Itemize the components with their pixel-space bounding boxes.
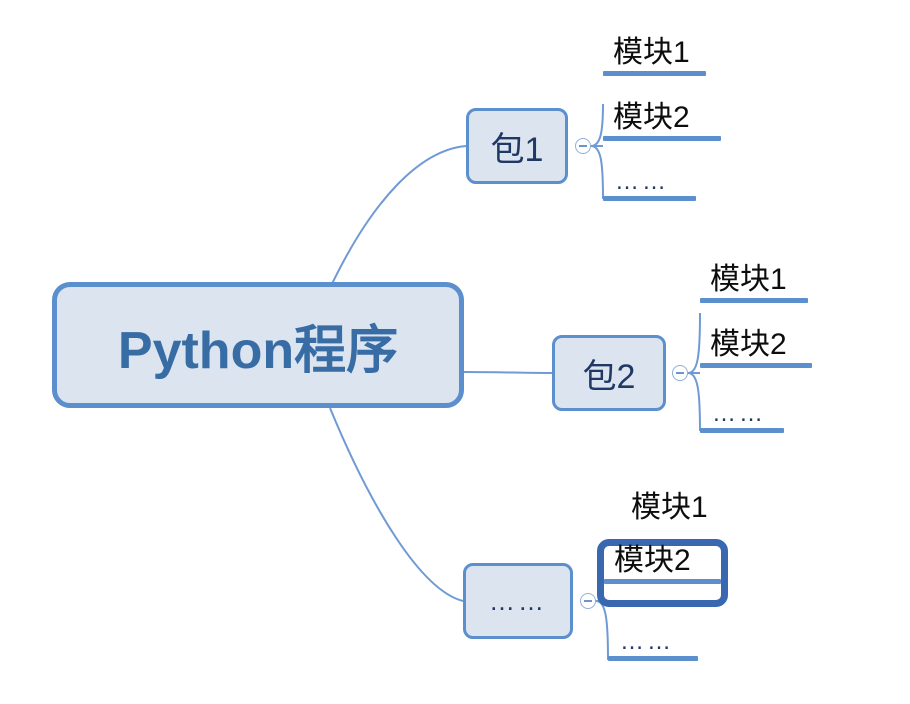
leaf-item-selected[interactable]: 模块2 [604,546,721,584]
leaf-item[interactable]: 模块1 [700,265,808,303]
branch-node-label: …… [489,586,547,617]
leaf-item[interactable]: 模块1 [603,38,706,76]
leaf-label: 模块2 [603,103,721,134]
leaf-label: …… [603,170,696,194]
leaf-underline [608,656,698,661]
branch-node-label: 包1 [491,122,544,171]
leaf-label: 模块1 [603,38,706,69]
branch-node-package-3[interactable]: …… [463,563,573,639]
branch-node-package-1[interactable]: 包1 [466,108,568,184]
leaf-underline [700,298,808,303]
leaf-underline [603,136,721,141]
root-node[interactable]: Python程序 [52,282,464,408]
leaf-item[interactable]: …… [603,170,696,201]
leaf-underline [700,363,812,368]
leaf-item[interactable]: 模块2 [603,103,721,141]
leaf-underline [603,196,696,201]
leaf-underline [603,71,706,76]
leaf-item[interactable]: …… [608,630,698,661]
branch-node-package-2[interactable]: 包2 [552,335,666,411]
leaf-item[interactable]: 模块1 [621,493,707,524]
leaf-label: 模块2 [604,546,721,577]
leaf-item[interactable]: …… [700,402,784,433]
leaf-label: 模块1 [700,265,808,296]
leaf-label: 模块2 [700,330,812,361]
collapse-toggle-icon-3[interactable] [580,593,596,609]
collapse-toggle-icon-2[interactable] [672,365,688,381]
leaf-label: 模块1 [621,493,707,524]
mindmap-canvas: Python程序 包1 模块1 模块2 …… 包2 模块1 模块2 …… …… … [0,0,910,704]
leaf-underline [604,579,721,584]
root-node-label: Python程序 [118,308,398,383]
leaf-underline [700,428,784,433]
leaf-item[interactable]: 模块2 [700,330,812,368]
collapse-toggle-icon-1[interactable] [575,138,591,154]
leaf-label: …… [608,630,698,654]
leaf-label: …… [700,402,784,426]
branch-node-label: 包2 [583,349,636,398]
